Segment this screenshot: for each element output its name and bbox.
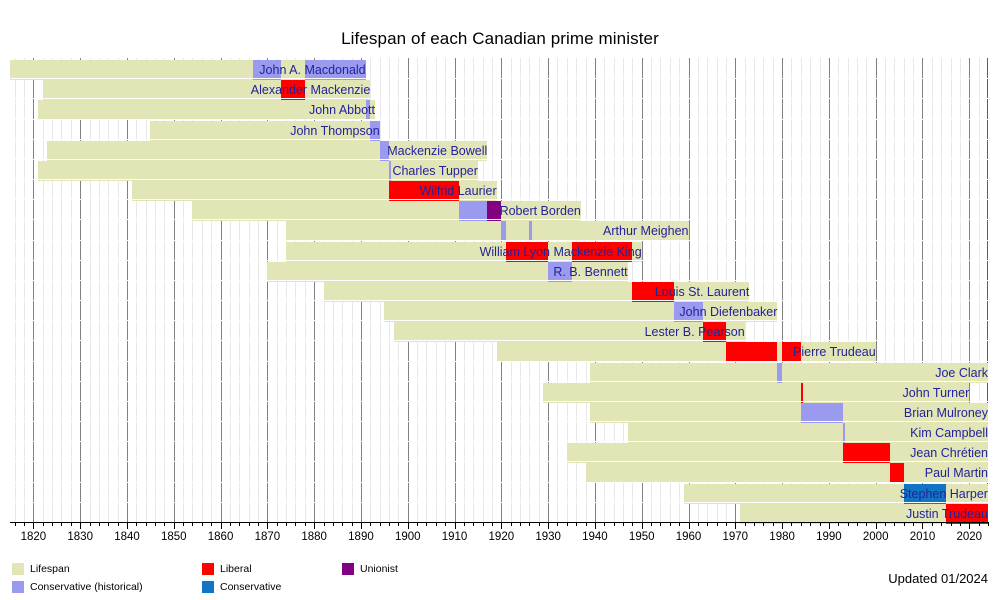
axis-tick-label: 1890 (348, 531, 374, 543)
legend-label-conservative: Conservative (220, 580, 281, 594)
axis-tick-major (501, 522, 502, 529)
row-separator (10, 139, 988, 140)
axis-tick-minor (108, 522, 109, 526)
legend-swatch-conservative (202, 581, 214, 593)
row-separator (10, 320, 988, 321)
axis-tick-minor (342, 522, 343, 526)
row-separator (10, 78, 988, 79)
axis-tick-minor (277, 522, 278, 526)
axis-tick-minor (286, 522, 287, 526)
axis-tick-minor (707, 522, 708, 526)
pm-row[interactable]: John Thompson (10, 121, 988, 141)
axis-tick-minor (52, 522, 53, 526)
axis-tick-minor (623, 522, 624, 526)
row-separator (10, 159, 988, 160)
pm-name-label: Louis St. Laurent (324, 284, 755, 300)
axis-tick-major (595, 522, 596, 529)
axis-tick-minor (960, 522, 961, 526)
axis-tick-minor (763, 522, 764, 526)
axis-tick-major (782, 522, 783, 529)
chart-plot-area: John A. MacdonaldAlexander MackenzieJohn… (10, 58, 988, 522)
axis-tick-label: 1900 (395, 531, 421, 543)
axis-tick-minor (417, 522, 418, 526)
axis-tick-major (221, 522, 222, 529)
legend-label-liberal: Liberal (220, 562, 252, 576)
pm-name-label: Kim Campbell (628, 425, 993, 441)
axis-tick-minor (894, 522, 895, 526)
axis-tick-minor (258, 522, 259, 526)
row-separator (10, 119, 988, 120)
axis-tick-major (314, 522, 315, 529)
axis-tick-minor (951, 522, 952, 526)
pm-name-label: Jean Chrétien (567, 445, 993, 461)
pm-name-label: Charles Tupper (38, 163, 483, 179)
pm-name-label: Lester B. Pearson (394, 324, 750, 340)
axis-tick-minor (61, 522, 62, 526)
pm-row[interactable]: Robert Borden (10, 201, 988, 221)
axis-tick-label: 1840 (114, 531, 140, 543)
axis-tick-minor (473, 522, 474, 526)
pm-row[interactable]: John A. Macdonald (10, 60, 988, 80)
axis-tick-minor (848, 522, 849, 526)
axis-tick-minor (398, 522, 399, 526)
pm-name-label: Wilfrid Laurier (132, 183, 502, 199)
legend-swatch-conshist (12, 581, 24, 593)
axis-tick-major (876, 522, 877, 529)
axis-tick-label: 1910 (442, 531, 468, 543)
pm-row[interactable]: Justin Trudeau (10, 504, 988, 524)
row-separator (10, 401, 988, 402)
axis-tick-minor (230, 522, 231, 526)
axis-tick-minor (717, 522, 718, 526)
axis-tick-label: 2020 (956, 531, 982, 543)
axis-tick-minor (249, 522, 250, 526)
axis-tick-major (922, 522, 923, 529)
pm-name-label: Pierre Trudeau (497, 344, 881, 360)
axis-tick-label: 2010 (910, 531, 936, 543)
axis-tick-minor (614, 522, 615, 526)
axis-tick-minor (324, 522, 325, 526)
axis-tick-label: 1930 (535, 531, 561, 543)
axis-tick-minor (838, 522, 839, 526)
axis-tick-minor (426, 522, 427, 526)
pm-row[interactable]: John Turner (10, 383, 988, 403)
axis-tick-minor (539, 522, 540, 526)
pm-row[interactable]: Stephen Harper (10, 484, 988, 504)
axis-tick-minor (511, 522, 512, 526)
axis-tick-minor (567, 522, 568, 526)
pm-row[interactable]: Lester B. Pearson (10, 322, 988, 342)
pm-row[interactable]: Brian Mulroney (10, 403, 988, 423)
axis-tick-label: 1920 (489, 531, 515, 543)
axis-tick-minor (857, 522, 858, 526)
pm-row[interactable]: Paul Martin (10, 463, 988, 483)
row-separator (10, 240, 988, 241)
pm-name-label: R. B. Bennett (267, 264, 632, 280)
axis-tick-minor (791, 522, 792, 526)
axis-tick-major (455, 522, 456, 529)
axis-tick-label: 1880 (301, 531, 327, 543)
axis-tick-label: 1870 (255, 531, 281, 543)
axis-tick-minor (801, 522, 802, 526)
pm-row[interactable]: Louis St. Laurent (10, 282, 988, 302)
pm-name-label: Mackenzie Bowell (47, 143, 492, 159)
row-separator (10, 502, 988, 503)
axis-tick-minor (576, 522, 577, 526)
axis-tick-major (735, 522, 736, 529)
pm-rows: John A. MacdonaldAlexander MackenzieJohn… (10, 58, 988, 522)
pm-row[interactable]: Charles Tupper (10, 161, 988, 181)
axis-tick-label: 1950 (629, 531, 655, 543)
pm-row[interactable]: John Abbott (10, 100, 988, 120)
pm-row[interactable]: Wilfrid Laurier (10, 181, 988, 201)
axis-tick-minor (43, 522, 44, 526)
axis-tick-minor (604, 522, 605, 526)
pm-row[interactable]: Jean Chrétien (10, 443, 988, 463)
axis-tick-minor (483, 522, 484, 526)
axis-tick-minor (164, 522, 165, 526)
axis-tick-major (642, 522, 643, 529)
legend-swatch-lifespan (12, 563, 24, 575)
axis-tick-minor (651, 522, 652, 526)
pm-name-label: Paul Martin (586, 465, 993, 481)
row-separator (10, 260, 988, 261)
axis-tick-minor (698, 522, 699, 526)
row-separator (10, 219, 988, 220)
axis-tick-minor (24, 522, 25, 526)
axis-tick-minor (71, 522, 72, 526)
pm-name-label: John Thompson (150, 123, 384, 139)
axis-tick-minor (333, 522, 334, 526)
legend-label-lifespan: Lifespan (30, 562, 70, 576)
axis-tick-label: 2000 (863, 531, 889, 543)
axis-tick-minor (183, 522, 184, 526)
legend-label-conshist: Conservative (historical) (30, 580, 143, 594)
axis-tick-minor (773, 522, 774, 526)
axis-tick-major (689, 522, 690, 529)
axis-tick-minor (295, 522, 296, 526)
chart-legend: LifespanConservative (historical)Liberal… (12, 562, 712, 596)
axis-tick-minor (726, 522, 727, 526)
axis-tick-minor (436, 522, 437, 526)
legend-swatch-liberal (202, 563, 214, 575)
axis-tick-minor (557, 522, 558, 526)
row-separator (10, 461, 988, 462)
row-separator (10, 340, 988, 341)
axis-tick-major (548, 522, 549, 529)
axis-tick-minor (146, 522, 147, 526)
pm-row[interactable]: Pierre Trudeau (10, 342, 988, 362)
axis-tick-minor (305, 522, 306, 526)
pm-name-label: Stephen Harper (684, 486, 993, 502)
row-separator (10, 482, 988, 483)
axis-tick-label: 1860 (208, 531, 234, 543)
axis-tick-minor (885, 522, 886, 526)
axis-tick-major (80, 522, 81, 529)
axis-tick-minor (520, 522, 521, 526)
axis-tick-minor (979, 522, 980, 526)
axis-tick-minor (745, 522, 746, 526)
axis-tick-minor (586, 522, 587, 526)
axis-tick-minor (155, 522, 156, 526)
axis-tick-label: 1940 (582, 531, 608, 543)
row-separator (10, 441, 988, 442)
row-separator (10, 179, 988, 180)
pm-row[interactable]: Joe Clark (10, 363, 988, 383)
axis-tick-minor (445, 522, 446, 526)
axis-tick-minor (988, 522, 989, 526)
axis-tick-minor (192, 522, 193, 526)
axis-tick-minor (932, 522, 933, 526)
axis-tick-label: 1980 (769, 531, 795, 543)
pm-name-label: Brian Mulroney (590, 405, 993, 421)
axis-tick-minor (239, 522, 240, 526)
row-separator (10, 280, 988, 281)
axis-tick-label: 1990 (816, 531, 842, 543)
axis-tick-minor (866, 522, 867, 526)
axis-tick-minor (810, 522, 811, 526)
axis-tick-minor (754, 522, 755, 526)
row-separator (10, 98, 988, 99)
axis-tick-minor (941, 522, 942, 526)
axis-tick-major (829, 522, 830, 529)
pm-name-label: Joe Clark (590, 365, 993, 381)
axis-tick-minor (211, 522, 212, 526)
pm-row[interactable]: William Lyon Mackenzie King (10, 242, 988, 262)
axis-tick-minor (99, 522, 100, 526)
row-separator (10, 300, 988, 301)
axis-tick-minor (679, 522, 680, 526)
axis-tick-major (969, 522, 970, 529)
row-separator (10, 361, 988, 362)
pm-row[interactable]: Kim Campbell (10, 423, 988, 443)
axis-tick-major (408, 522, 409, 529)
axis-tick-label: 1850 (161, 531, 187, 543)
pm-name-label: William Lyon Mackenzie King (286, 244, 647, 260)
axis-tick-major (33, 522, 34, 529)
pm-name-label: John Abbott (38, 102, 380, 118)
axis-tick-label: 1970 (723, 531, 749, 543)
row-separator (10, 381, 988, 382)
axis-tick-minor (904, 522, 905, 526)
axis-tick-minor (529, 522, 530, 526)
axis-tick-minor (352, 522, 353, 526)
pm-name-label: John A. Macdonald (10, 62, 371, 78)
axis-tick-minor (670, 522, 671, 526)
axis-tick-major (127, 522, 128, 529)
pm-name-label: Justin Trudeau (740, 506, 993, 522)
pm-name-label: Robert Borden (192, 203, 585, 219)
pm-row[interactable]: Alexander Mackenzie (10, 80, 988, 100)
pm-row[interactable]: John Diefenbaker (10, 302, 988, 322)
axis-tick-minor (492, 522, 493, 526)
x-axis: 1820183018401850186018701880189019001910… (10, 522, 988, 552)
axis-tick-minor (118, 522, 119, 526)
legend-swatch-unionist (342, 563, 354, 575)
pm-row[interactable]: Arthur Meighen (10, 221, 988, 241)
axis-tick-major (361, 522, 362, 529)
axis-tick-minor (202, 522, 203, 526)
axis-tick-minor (660, 522, 661, 526)
axis-tick-minor (464, 522, 465, 526)
axis-line (10, 522, 988, 523)
updated-label: Updated 01/2024 (888, 571, 988, 586)
axis-tick-label: 1830 (67, 531, 93, 543)
axis-tick-minor (90, 522, 91, 526)
axis-tick-minor (632, 522, 633, 526)
pm-name-label: Arthur Meighen (286, 223, 693, 239)
row-separator (10, 421, 988, 422)
pm-row[interactable]: R. B. Bennett (10, 262, 988, 282)
pm-row[interactable]: Mackenzie Bowell (10, 141, 988, 161)
pm-name-label: John Diefenbaker (384, 304, 782, 320)
axis-tick-minor (389, 522, 390, 526)
axis-tick-label: 1960 (676, 531, 702, 543)
axis-tick-minor (15, 522, 16, 526)
axis-tick-major (174, 522, 175, 529)
pm-name-label: Alexander Mackenzie (43, 82, 376, 98)
axis-tick-label: 1820 (21, 531, 47, 543)
axis-tick-minor (136, 522, 137, 526)
axis-tick-minor (380, 522, 381, 526)
axis-tick-minor (820, 522, 821, 526)
axis-tick-minor (913, 522, 914, 526)
page-title: Lifespan of each Canadian prime minister (0, 29, 1000, 49)
axis-tick-major (267, 522, 268, 529)
row-separator (10, 199, 988, 200)
axis-tick-minor (370, 522, 371, 526)
legend-label-unionist: Unionist (360, 562, 398, 576)
pm-name-label: John Turner (543, 385, 974, 401)
